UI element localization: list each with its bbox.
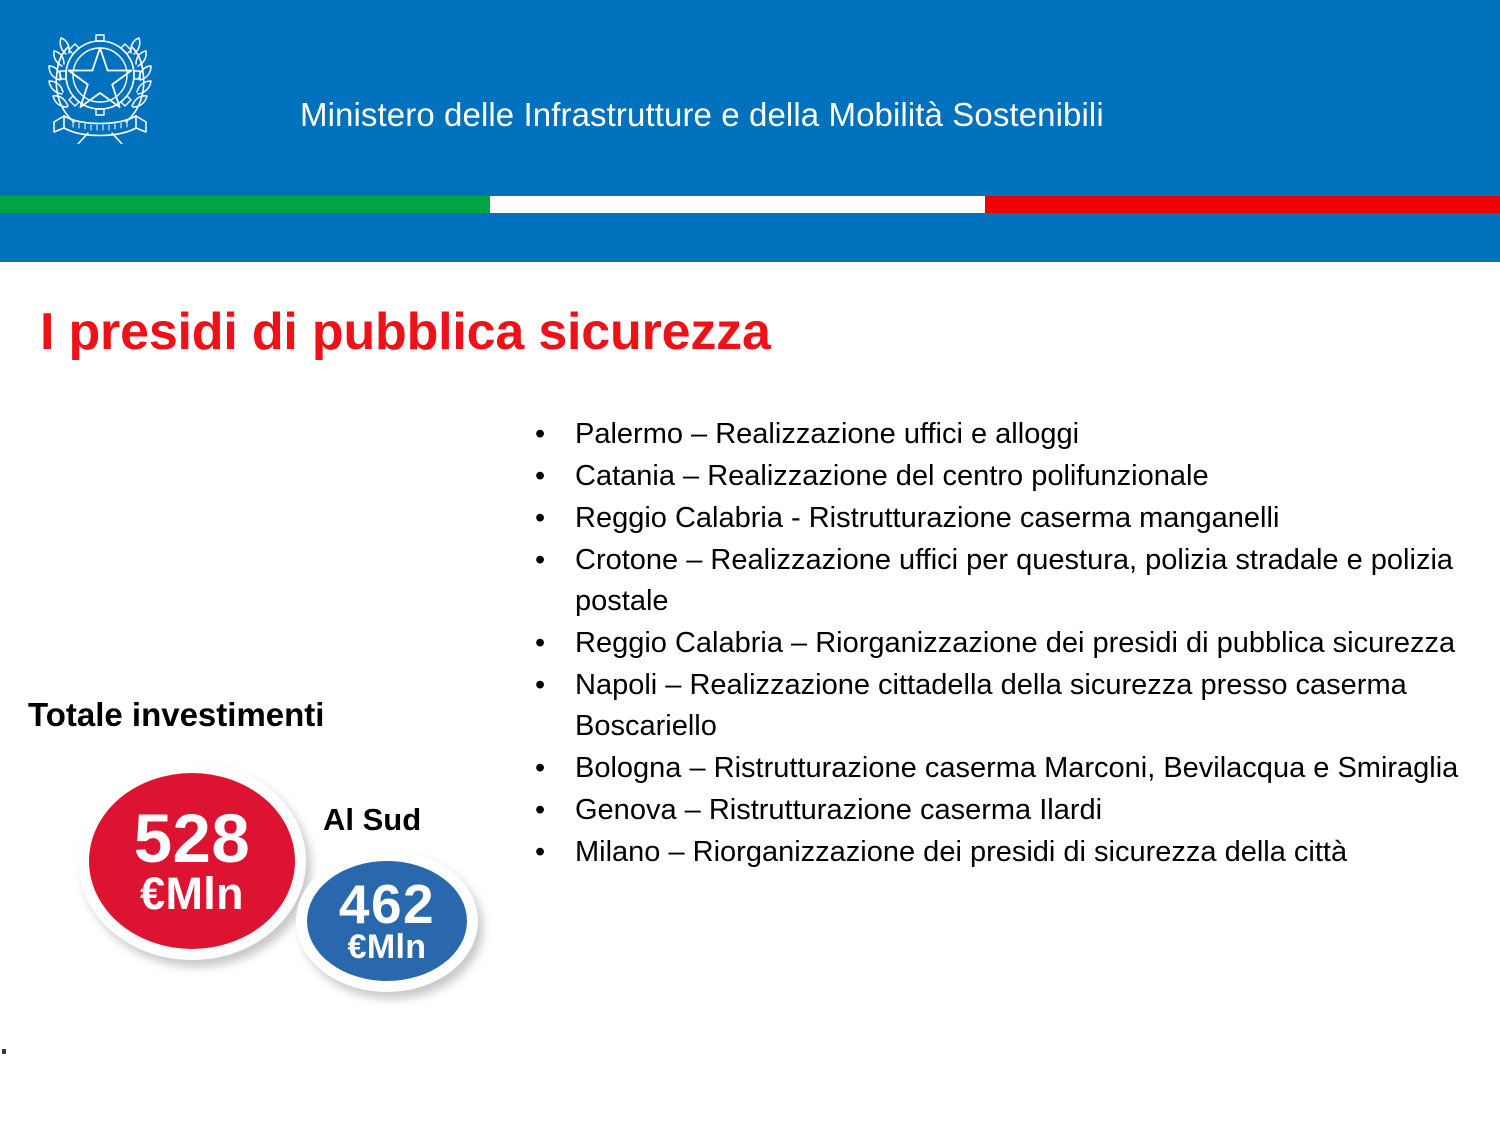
south-investment-value: 462 bbox=[339, 878, 435, 930]
list-item-label: Napoli – Realizzazione cittadella della … bbox=[575, 669, 1407, 742]
bullet-dot-icon: • bbox=[535, 790, 545, 831]
italian-republic-emblem-icon bbox=[44, 18, 156, 144]
list-item: • Genova – Ristrutturazione caserma Ilar… bbox=[527, 790, 1482, 831]
tricolor-rule bbox=[0, 196, 1500, 213]
total-investment-bubble: 528 €Mln bbox=[78, 762, 306, 960]
list-item-label: Reggio Calabria – Riorganizzazione dei p… bbox=[575, 627, 1455, 659]
south-share-label: Al Sud bbox=[323, 802, 421, 838]
list-item: • Palermo – Realizzazione uffici e allog… bbox=[527, 414, 1482, 455]
tricolor-red-band bbox=[985, 196, 1500, 213]
total-investment-value: 528 bbox=[134, 806, 251, 872]
list-item: • Reggio Calabria – Riorganizzazione dei… bbox=[527, 623, 1482, 664]
list-item: • Napoli – Realizzazione cittadella dell… bbox=[527, 665, 1482, 747]
bullet-dot-icon: • bbox=[535, 623, 545, 664]
list-item-label: Bologna – Ristrutturazione caserma Marco… bbox=[575, 752, 1458, 784]
investment-infographic: Totale investimenti Al Sud 528 €Mln 462 … bbox=[0, 690, 500, 1010]
slide: Ministero delle Infrastrutture e della M… bbox=[0, 0, 1500, 1125]
bullet-dot-icon: • bbox=[535, 832, 545, 873]
list-item: • Reggio Calabria - Ristrutturazione cas… bbox=[527, 498, 1482, 539]
list-item-label: Genova – Ristrutturazione caserma Ilardi bbox=[575, 794, 1102, 826]
list-item-label: Reggio Calabria - Ristrutturazione caser… bbox=[575, 502, 1279, 534]
south-investment-bubble: 462 €Mln bbox=[296, 850, 478, 992]
tricolor-green-band bbox=[0, 196, 490, 213]
bullet-dot-icon: • bbox=[535, 665, 545, 706]
list-item: • Catania – Realizzazione del centro pol… bbox=[527, 456, 1482, 497]
bullet-dot-icon: • bbox=[535, 414, 545, 455]
total-investment-unit: €Mln bbox=[140, 873, 244, 916]
bullet-dot-icon: • bbox=[535, 540, 545, 581]
list-item-label: Palermo – Realizzazione uffici e alloggi bbox=[575, 418, 1079, 450]
bullet-dot-icon: • bbox=[535, 748, 545, 789]
project-bullet-list: • Palermo – Realizzazione uffici e allog… bbox=[527, 414, 1482, 874]
list-item: • Milano – Riorganizzazione dei presidi … bbox=[527, 832, 1482, 873]
corner-artifact-dot bbox=[2, 1049, 6, 1054]
page-title: I presidi di pubblica sicurezza bbox=[40, 302, 771, 362]
list-item: • Crotone – Realizzazione uffici per que… bbox=[527, 540, 1482, 622]
list-item-label: Milano – Riorganizzazione dei presidi di… bbox=[575, 836, 1347, 868]
ministry-title: Ministero delle Infrastrutture e della M… bbox=[300, 96, 1260, 134]
list-item-label: Catania – Realizzazione del centro polif… bbox=[575, 460, 1209, 492]
list-item-label: Crotone – Realizzazione uffici per quest… bbox=[575, 544, 1453, 617]
tricolor-white-band bbox=[490, 196, 985, 213]
bullet-dot-icon: • bbox=[535, 498, 545, 539]
total-investments-label: Totale investimenti bbox=[28, 696, 324, 734]
list-item: • Bologna – Ristrutturazione caserma Mar… bbox=[527, 748, 1482, 789]
bullet-dot-icon: • bbox=[535, 456, 545, 497]
south-investment-unit: €Mln bbox=[348, 931, 427, 963]
